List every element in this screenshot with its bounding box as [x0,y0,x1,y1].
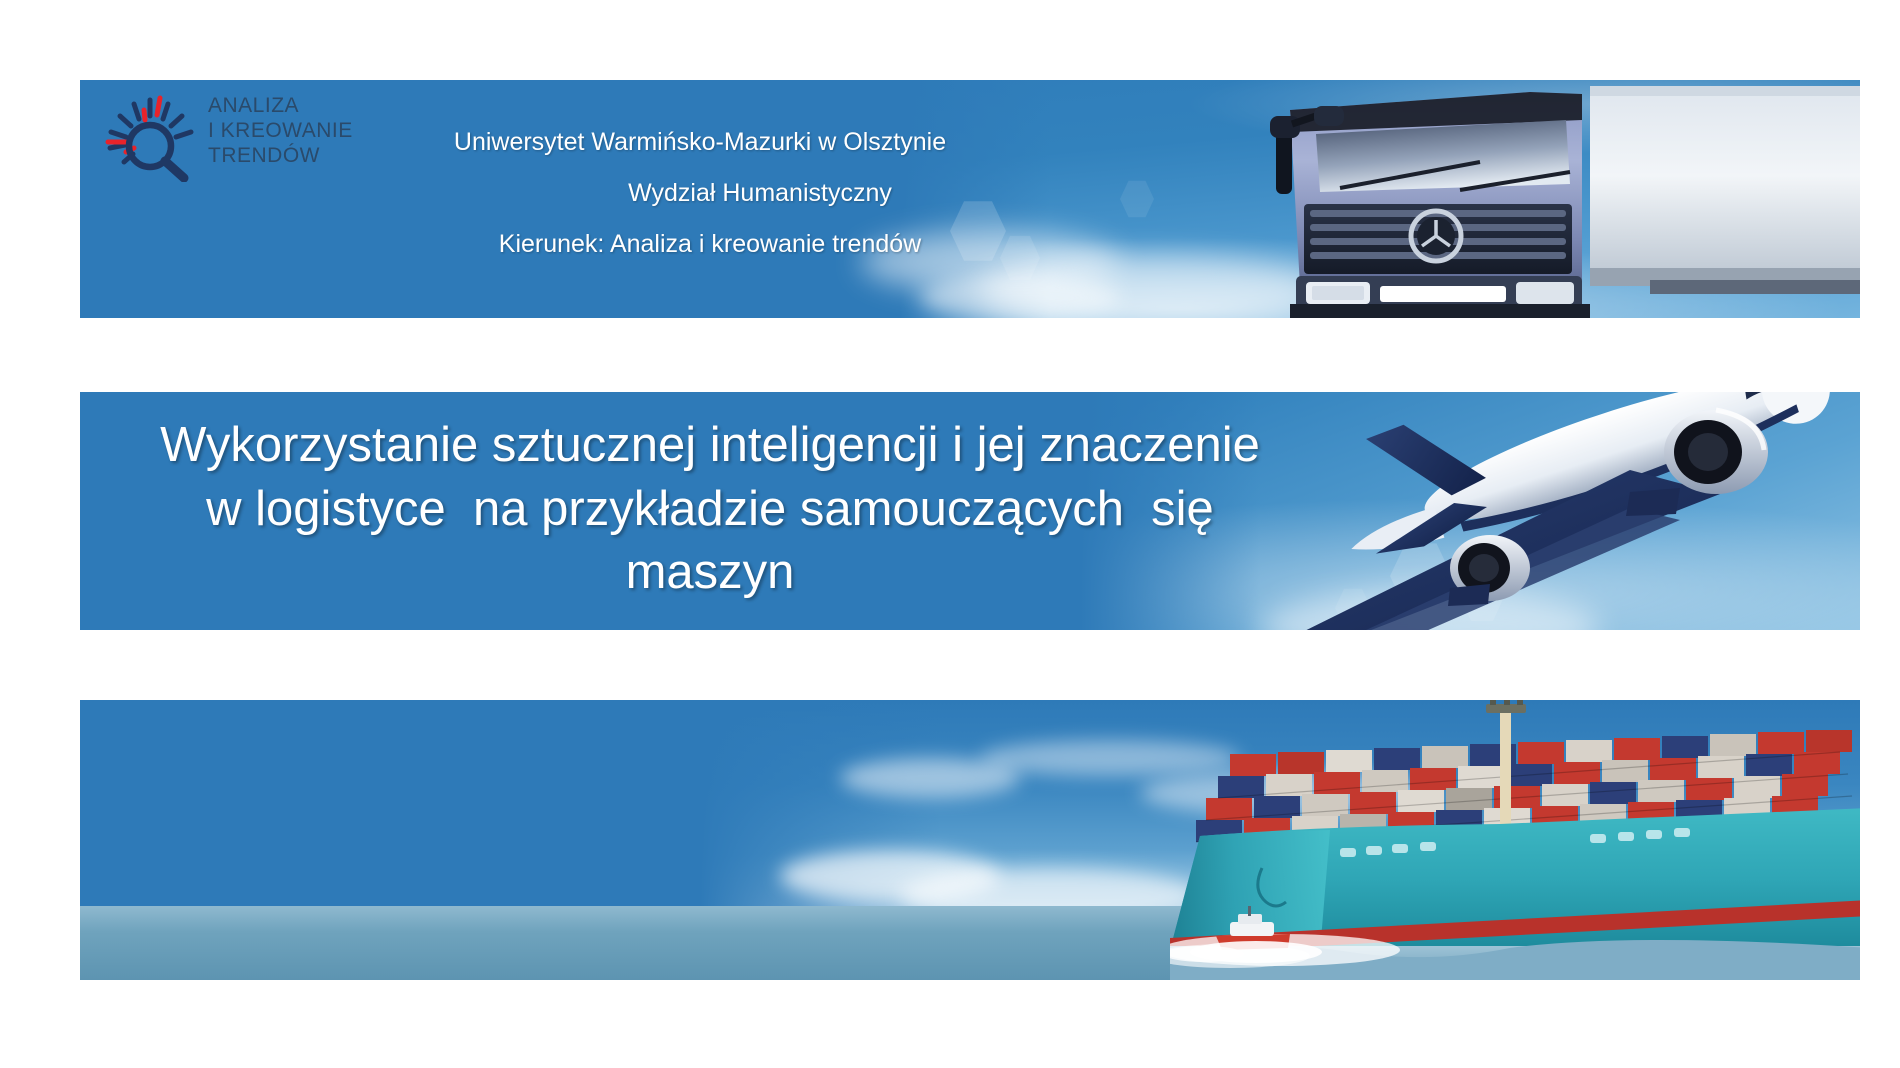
logo: ANALIZA I KREOWANIE TRENDÓW [98,90,368,182]
semi-truck-image [1230,80,1860,318]
title-line-3: maszyn [120,541,1300,605]
container-ship-image [1170,700,1860,980]
title-band: Wykorzystanie sztucznej inteligencji i j… [80,392,1860,630]
presentation-slide: ANALIZA I KREOWANIE TRENDÓW Uniwersytet … [0,0,1900,1068]
ship-band [80,700,1860,980]
title-line-2: w logistyce na przykładzie samouczących … [120,478,1300,542]
title-line-1: Wykorzystanie sztucznej inteligencji i j… [120,414,1300,478]
header-band: ANALIZA I KREOWANIE TRENDÓW Uniwersytet … [80,80,1860,318]
logo-text: ANALIZA I KREOWANIE TRENDÓW [208,94,353,168]
faculty-name: Wydział Humanistyczny [380,179,1020,208]
university-name: Uniwersytet Warmińsko-Mazurki w Olsztyni… [380,128,1020,157]
field-of-study: Kierunek: Analiza i kreowanie trendów [380,230,1020,259]
header-text-block: Uniwersytet Warmińsko-Mazurki w Olsztyni… [380,128,1020,259]
magnifying-glass-icon [98,90,208,182]
cloud [920,276,1120,318]
slide-title: Wykorzystanie sztucznej inteligencji i j… [120,414,1300,605]
